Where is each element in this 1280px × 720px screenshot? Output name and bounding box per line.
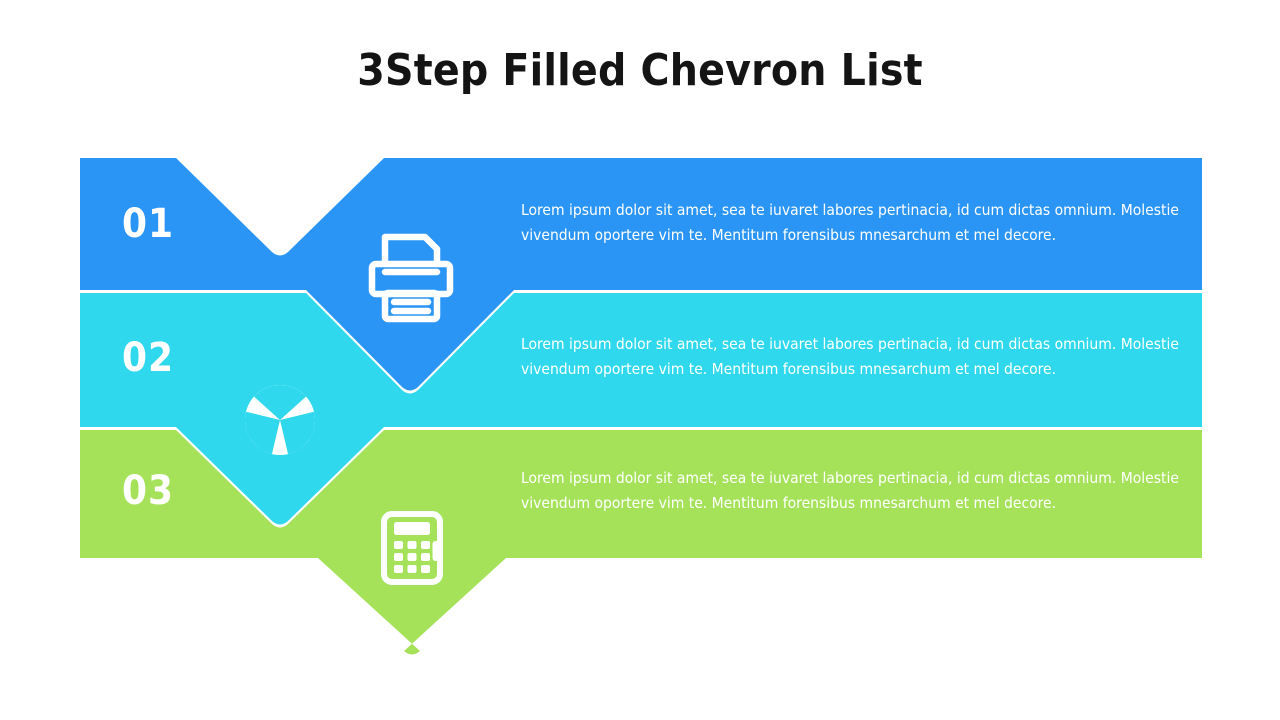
chevron-list-diagram: 01 Lorem ipsum dolor sit amet, sea te iu… [0, 0, 1280, 720]
step-number-03: 03 [122, 471, 174, 511]
radiation-icon [245, 385, 315, 455]
slide-canvas: 3Step Filled Chevron List [0, 0, 1280, 720]
step-number-02: 02 [122, 338, 174, 378]
step-number-01: 01 [122, 204, 174, 244]
step-description-01: Lorem ipsum dolor sit amet, sea te iuvar… [521, 198, 1183, 248]
step-description-03: Lorem ipsum dolor sit amet, sea te iuvar… [521, 466, 1183, 516]
step-description-02: Lorem ipsum dolor sit amet, sea te iuvar… [521, 332, 1183, 382]
